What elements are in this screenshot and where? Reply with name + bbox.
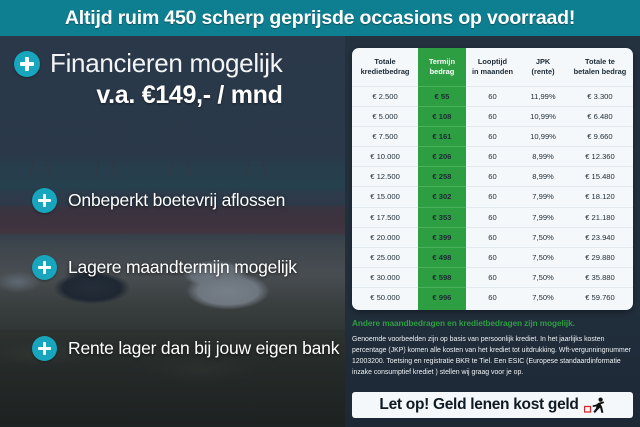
- promo-bullet-label: Rente lager dan bij jouw eigen bank: [68, 338, 339, 359]
- plus-circle-icon: [32, 336, 57, 361]
- table-row: € 10.000€ 206608,99%€ 12.360: [352, 147, 633, 167]
- spacer-cell: [519, 307, 567, 310]
- cell-monthly-amount: € 258: [418, 167, 466, 187]
- cell-credit-amount: € 17.500: [352, 207, 418, 227]
- cell-credit-amount: € 20.000: [352, 227, 418, 247]
- cell-duration: 60: [466, 267, 519, 287]
- cell-credit-amount: € 15.000: [352, 187, 418, 207]
- table-row: € 17.500€ 353607,99%€ 21.180: [352, 207, 633, 227]
- cell-monthly-amount: € 498: [418, 247, 466, 267]
- promo-bullet-label: Onbeperkt boetevrij aflossen: [68, 190, 285, 211]
- cell-monthly-amount: € 206: [418, 147, 466, 167]
- cell-total-payable: € 9.660: [567, 127, 633, 147]
- cell-total-payable: € 12.360: [567, 147, 633, 167]
- cell-credit-amount: € 7.500: [352, 127, 418, 147]
- cell-total-payable: € 35.880: [567, 267, 633, 287]
- afm-warning-text: Let op! Geld lenen kost geld: [379, 396, 578, 414]
- headline-text: Financieren mogelijk: [50, 50, 282, 77]
- column-header-monthly-amount: Termijnbedrag: [418, 48, 466, 86]
- afm-warning-bar: Let op! Geld lenen kost geld: [352, 392, 633, 418]
- cell-total-payable: € 18.120: [567, 187, 633, 207]
- rates-table-body: € 2.500€ 556011,99%€ 3.300€ 5.000€ 10860…: [352, 86, 633, 310]
- cell-total-payable: € 6.480: [567, 107, 633, 127]
- cell-monthly-amount: € 399: [418, 227, 466, 247]
- disclaimer-title: Andere maandbedragen en kredietbedragen …: [352, 318, 633, 329]
- cell-jpk: 10,99%: [519, 107, 567, 127]
- cell-credit-amount: € 25.000: [352, 247, 418, 267]
- rates-card: Totalekredietbedrag Termijnbedrag Loopti…: [352, 48, 633, 310]
- promo-bullet-label: Lagere maandtermijn mogelijk: [68, 257, 297, 278]
- advertisement-banner: Altijd ruim 450 scherp geprijsde occasio…: [0, 0, 640, 427]
- disclaimer-block: Andere maandbedragen en kredietbedragen …: [352, 318, 633, 379]
- cell-total-payable: € 29.880: [567, 247, 633, 267]
- cell-jpk: 8,99%: [519, 167, 567, 187]
- column-header-credit-amount: Totalekredietbedrag: [352, 48, 418, 86]
- cell-credit-amount: € 30.000: [352, 267, 418, 287]
- table-row: € 7.500€ 1616010,99%€ 9.660: [352, 127, 633, 147]
- table-row: € 15.000€ 302607,99%€ 18.120: [352, 187, 633, 207]
- cell-jpk: 7,99%: [519, 187, 567, 207]
- cell-duration: 60: [466, 207, 519, 227]
- cell-monthly-amount: € 161: [418, 127, 466, 147]
- cell-monthly-amount: € 353: [418, 207, 466, 227]
- table-row: € 5.000€ 1086010,99%€ 6.480: [352, 107, 633, 127]
- cell-jpk: 11,99%: [519, 86, 567, 106]
- cell-duration: 60: [466, 167, 519, 187]
- disclaimer-body: Genoemde voorbeelden zijn op basis van p…: [352, 334, 633, 379]
- table-row: € 25.000€ 498607,50%€ 29.880: [352, 247, 633, 267]
- cell-monthly-amount: € 302: [418, 187, 466, 207]
- table-row: € 12.500€ 258608,99%€ 15.480: [352, 167, 633, 187]
- cell-monthly-amount: € 108: [418, 107, 466, 127]
- cell-duration: 60: [466, 287, 519, 307]
- spacer-cell: [567, 307, 633, 310]
- cell-jpk: 7,99%: [519, 207, 567, 227]
- cell-total-payable: € 59.760: [567, 287, 633, 307]
- top-banner-text: Altijd ruim 450 scherp geprijsde occasio…: [65, 7, 575, 30]
- cell-jpk: 8,99%: [519, 147, 567, 167]
- cell-duration: 60: [466, 147, 519, 167]
- cell-total-payable: € 15.480: [567, 167, 633, 187]
- cell-monthly-amount: € 996: [418, 287, 466, 307]
- subheadline-text: v.a. €149,- / mnd: [40, 81, 339, 110]
- cell-jpk: 10,99%: [519, 127, 567, 147]
- promo-bullet-3: Rente lager dan bij jouw eigen bank: [32, 336, 339, 361]
- plus-circle-icon: [14, 51, 40, 77]
- column-header-total-payable: Totale tebetalen bedrag: [567, 48, 633, 86]
- cell-duration: 60: [466, 227, 519, 247]
- promo-content: Financieren mogelijk v.a. €149,- / mnd O…: [0, 36, 345, 427]
- cell-jpk: 7,50%: [519, 287, 567, 307]
- cell-credit-amount: € 50.000: [352, 287, 418, 307]
- headline-block: Financieren mogelijk v.a. €149,- / mnd: [14, 50, 339, 110]
- rates-table: Totalekredietbedrag Termijnbedrag Loopti…: [352, 48, 633, 310]
- cell-credit-amount: € 10.000: [352, 147, 418, 167]
- table-row: € 30.000€ 598607,50%€ 35.880: [352, 267, 633, 287]
- cell-credit-amount: € 12.500: [352, 167, 418, 187]
- cell-credit-amount: € 5.000: [352, 107, 418, 127]
- spacer-cell: [352, 307, 418, 310]
- cell-credit-amount: € 2.500: [352, 86, 418, 106]
- promo-bullet-1: Onbeperkt boetevrij aflossen: [32, 188, 285, 213]
- table-header-row: Totalekredietbedrag Termijnbedrag Loopti…: [352, 48, 633, 86]
- cell-jpk: 7,50%: [519, 227, 567, 247]
- promo-bullet-2: Lagere maandtermijn mogelijk: [32, 255, 297, 280]
- spacer-cell: [466, 307, 519, 310]
- cell-duration: 60: [466, 187, 519, 207]
- afm-running-man-icon: [584, 397, 606, 414]
- plus-circle-icon: [32, 255, 57, 280]
- cell-total-payable: € 21.180: [567, 207, 633, 227]
- column-header-jpk: JPK(rente): [519, 48, 567, 86]
- table-row: € 2.500€ 556011,99%€ 3.300: [352, 86, 633, 106]
- cell-total-payable: € 23.940: [567, 227, 633, 247]
- cell-duration: 60: [466, 107, 519, 127]
- cell-duration: 60: [466, 247, 519, 267]
- spacer-cell: [418, 307, 466, 310]
- plus-circle-icon: [32, 188, 57, 213]
- column-header-duration: Looptijdin maanden: [466, 48, 519, 86]
- table-row: € 20.000€ 399607,50%€ 23.940: [352, 227, 633, 247]
- cell-jpk: 7,50%: [519, 267, 567, 287]
- cell-monthly-amount: € 598: [418, 267, 466, 287]
- top-banner: Altijd ruim 450 scherp geprijsde occasio…: [0, 0, 640, 36]
- cell-jpk: 7,50%: [519, 247, 567, 267]
- cell-monthly-amount: € 55: [418, 86, 466, 106]
- cell-duration: 60: [466, 86, 519, 106]
- cell-total-payable: € 3.300: [567, 86, 633, 106]
- table-row-spacer: [352, 307, 633, 310]
- cell-duration: 60: [466, 127, 519, 147]
- table-row: € 50.000€ 996607,50%€ 59.760: [352, 287, 633, 307]
